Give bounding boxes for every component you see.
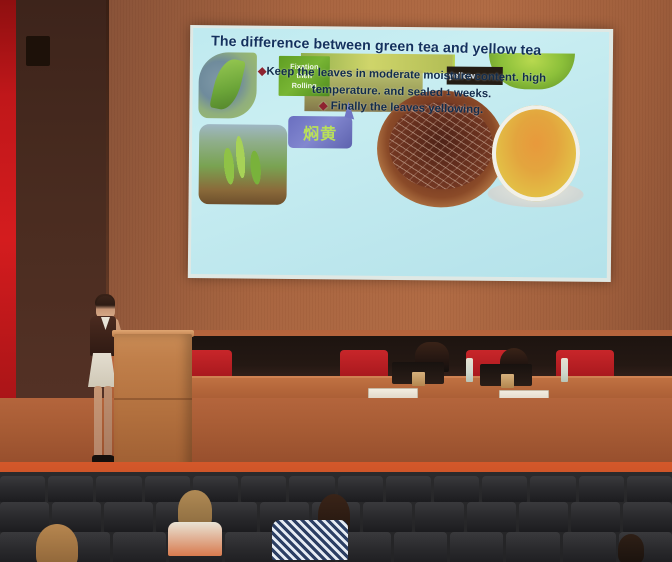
auditorium-seat	[467, 502, 516, 532]
auditorium-seat	[579, 476, 624, 502]
audience-member-head	[36, 524, 78, 562]
projection-screen: FixationthenRolling yellow 焖黄 The differ…	[188, 25, 613, 282]
panel-cup	[501, 374, 514, 388]
auditorium-seat	[571, 502, 620, 532]
auditorium-seat	[225, 532, 278, 562]
auditorium-seat	[623, 502, 672, 532]
audience-member-body	[272, 520, 348, 560]
auditorium-seat	[506, 532, 559, 562]
auditorium-seat	[96, 476, 141, 502]
lectern-logo	[122, 349, 184, 371]
presenter-leg	[104, 386, 112, 458]
audience-seating-area	[0, 472, 672, 562]
chinese-callout-text: 焖黄	[303, 120, 337, 144]
water-bottle	[561, 358, 568, 382]
auditorium-seat	[530, 476, 575, 502]
water-bottle	[466, 358, 473, 382]
bullet-1-text-before: Keep the leaves in moderate moisture con…	[266, 66, 546, 99]
slide-body-text: ◆Keep the leaves in moderate moisture co…	[226, 63, 577, 121]
slide-photo-tea-plant-field	[199, 124, 288, 205]
auditorium-seat	[394, 532, 447, 562]
auditorium-seat	[363, 502, 412, 532]
auditorium-seat	[386, 476, 431, 502]
auditorium-seat	[434, 476, 479, 502]
auditorium-seat	[48, 476, 93, 502]
auditorium-seat	[519, 502, 568, 532]
presenter-leg	[94, 386, 102, 458]
audience-member-body	[168, 522, 222, 556]
auditorium-seat	[482, 476, 527, 502]
lectern-seam	[114, 398, 192, 400]
auditorium-seat	[0, 476, 45, 502]
auditorium-seat	[563, 532, 616, 562]
auditorium-seat	[241, 476, 286, 502]
auditorium-seat	[113, 532, 166, 562]
auditorium-seat	[415, 502, 464, 532]
bullet-diamond-icon-2: ◆	[319, 100, 328, 112]
panel-cup	[412, 372, 425, 386]
presentation-photo-scene: FixationthenRolling yellow 焖黄 The differ…	[0, 0, 672, 562]
auditorium-seat	[0, 502, 49, 532]
slide-callout-chinese: 焖黄	[288, 116, 352, 149]
wall-fixture-box	[26, 36, 50, 66]
auditorium-seat	[627, 476, 672, 502]
auditorium-seat	[450, 532, 503, 562]
bullet-1-text-after: weeks.	[451, 87, 492, 100]
presentation-slide: FixationthenRolling yellow 焖黄 The differ…	[191, 28, 609, 278]
auditorium-seat	[104, 502, 153, 532]
audience-member-head	[618, 534, 644, 562]
bullet-2-text: Finally the leaves yellowing.	[331, 100, 484, 116]
